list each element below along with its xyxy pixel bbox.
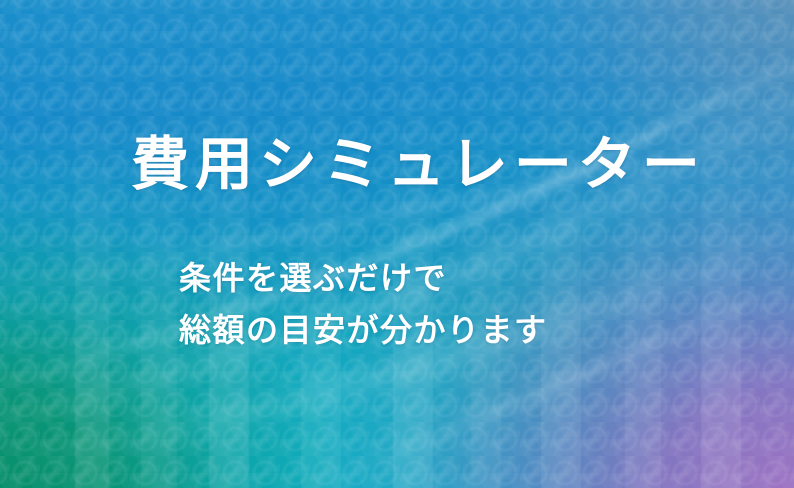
- banner-subtitle-line-2: 総額の目安が分かります: [179, 305, 548, 357]
- banner-title: 費用シミュレーター: [131, 133, 706, 196]
- cost-simulator-banner: 費用シミュレーター 条件を選ぶだけで 総額の目安が分かります: [0, 0, 794, 488]
- banner-subtitle-line-1: 条件を選ぶだけで: [179, 253, 548, 305]
- banner-copy: 費用シミュレーター 条件を選ぶだけで 総額の目安が分かります: [0, 0, 794, 488]
- banner-subtitle: 条件を選ぶだけで 総額の目安が分かります: [179, 253, 548, 357]
